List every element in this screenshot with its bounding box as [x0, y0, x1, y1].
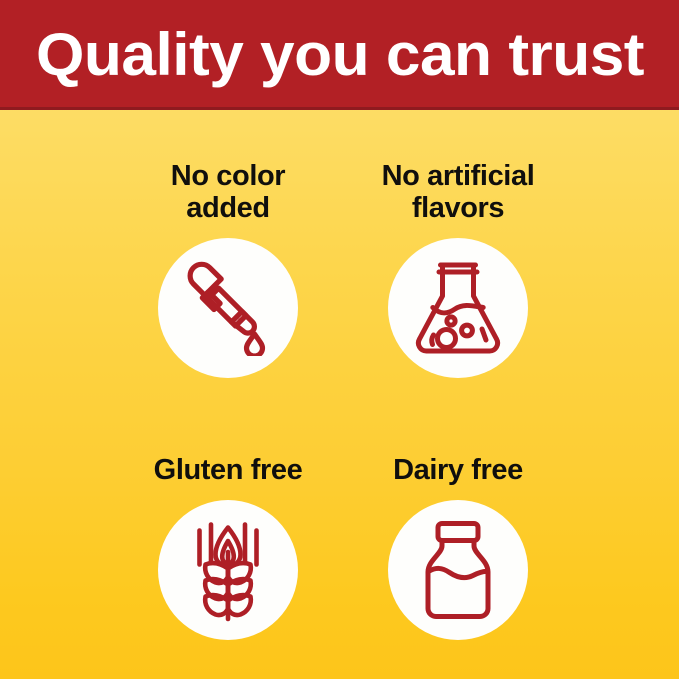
feature-label-no-color-added: No color added — [110, 160, 346, 224]
icon-circle-no-color-added — [158, 238, 298, 378]
icon-circle-gluten-free — [158, 500, 298, 640]
feature-no-artificial-flavors: No artificial flavors — [340, 160, 576, 378]
milk-bottle-icon — [419, 519, 497, 621]
feature-label-dairy-free: Dairy free — [340, 422, 576, 486]
wheat-icon — [185, 518, 271, 622]
header-banner: Quality you can trust — [0, 0, 679, 110]
feature-grid: No color added — [0, 110, 679, 679]
dropper-icon — [180, 260, 276, 356]
flask-icon — [411, 259, 505, 357]
feature-label-no-artificial-flavors: No artificial flavors — [340, 160, 576, 224]
feature-dairy-free: Dairy free — [340, 422, 576, 640]
feature-no-color-added: No color added — [110, 160, 346, 378]
page-title: Quality you can trust — [36, 24, 644, 86]
icon-circle-no-artificial-flavors — [388, 238, 528, 378]
icon-circle-dairy-free — [388, 500, 528, 640]
feature-gluten-free: Gluten free — [110, 422, 346, 640]
feature-label-gluten-free: Gluten free — [110, 422, 346, 486]
infographic-page: Quality you can trust No color added — [0, 0, 679, 679]
